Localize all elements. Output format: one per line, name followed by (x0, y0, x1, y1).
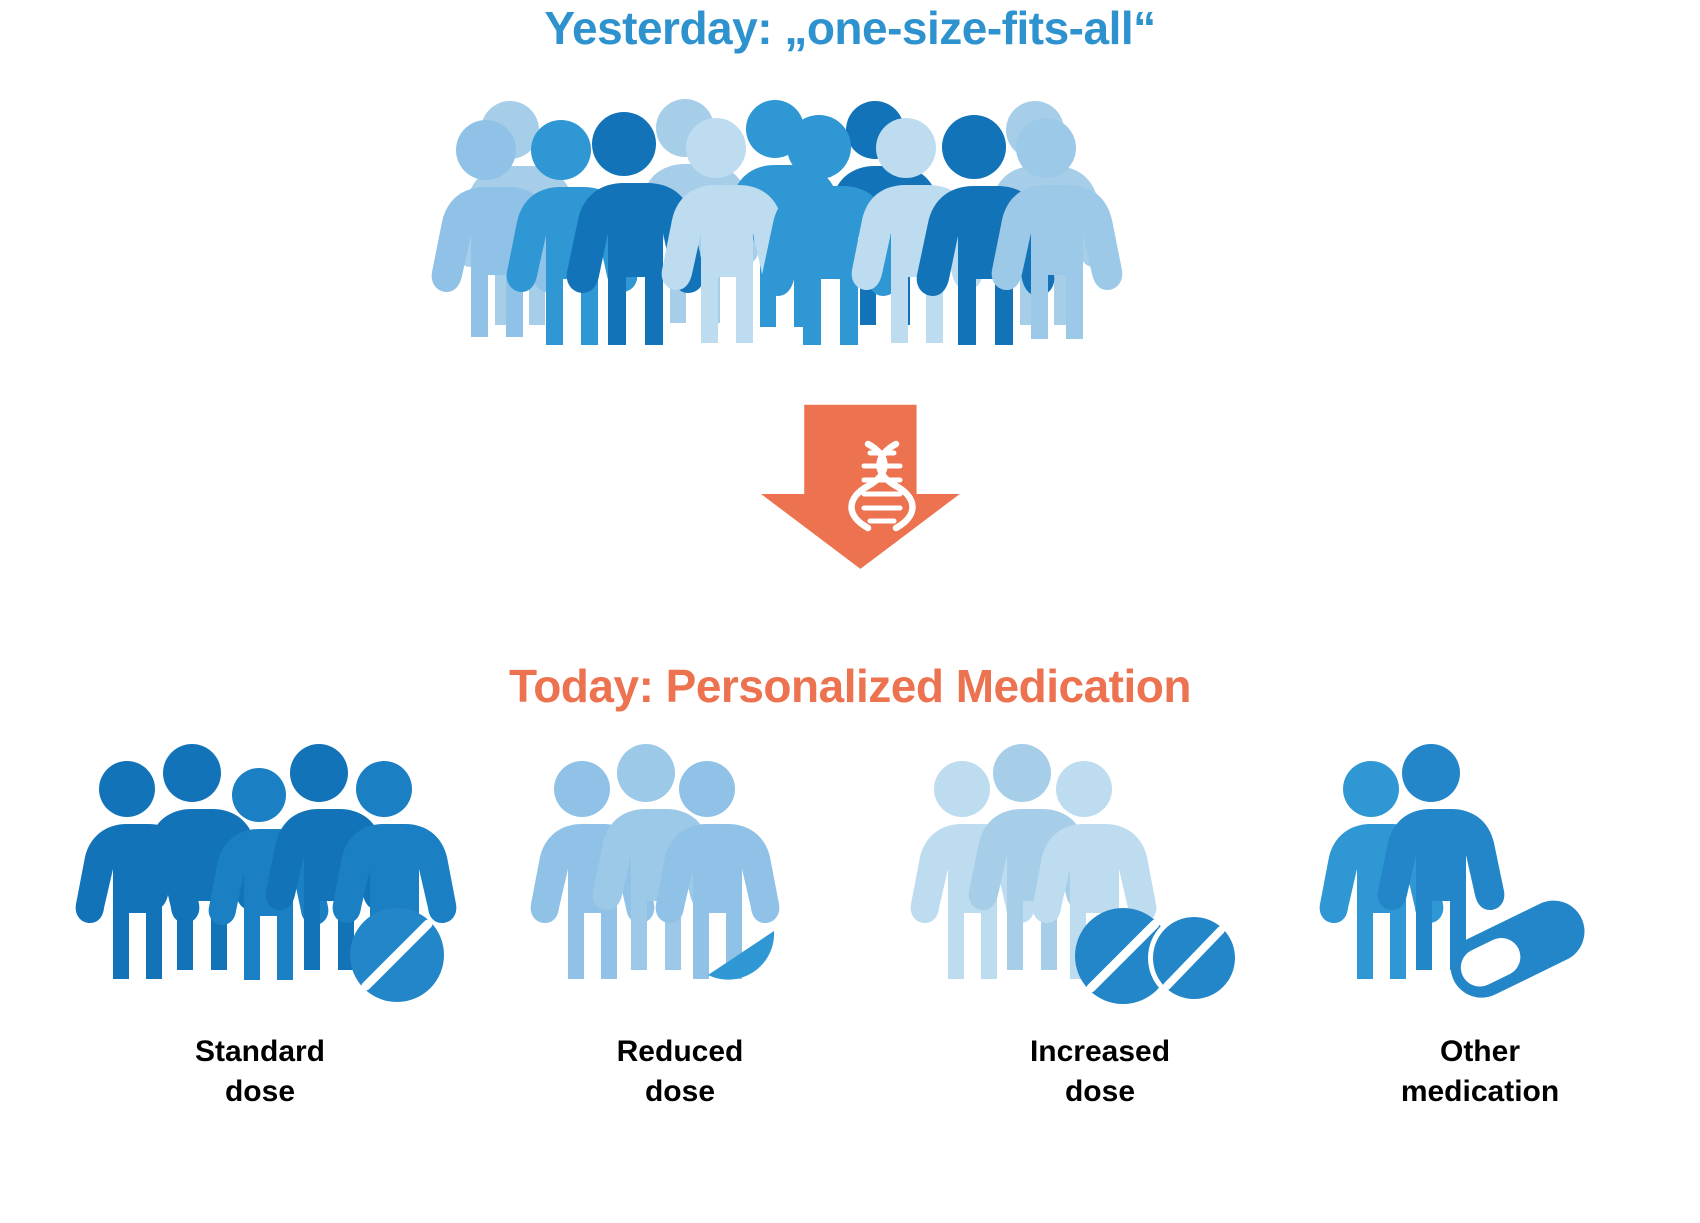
crowd-figure (660, 115, 772, 343)
patient-population-crowd (435, 95, 1095, 345)
group-label-reduced-dose: Reduced dose (480, 1032, 880, 1112)
group-other-medication (1305, 720, 1665, 1020)
group-label-line2: medication (1260, 1072, 1700, 1112)
capsule-pill-icon (1433, 890, 1603, 1010)
half-round-pill-icon (700, 915, 792, 1007)
group-label-line1: Increased (1030, 1035, 1170, 1068)
group-label-other-medication: Other medication (1260, 1032, 1700, 1112)
group-label-line1: Reduced (617, 1035, 744, 1068)
group-label-line2: dose (480, 1072, 880, 1112)
down-arrow-shape (761, 405, 960, 569)
group-label-line1: Standard (195, 1035, 325, 1068)
infographic-canvas: Yesterday: „one-size-fits-all“ (0, 0, 1700, 1223)
group-standard-dose (60, 720, 460, 1020)
group-increased-dose (890, 720, 1290, 1020)
group-label-line1: Other (1440, 1035, 1520, 1068)
page-title-yesterday: Yesterday: „one-size-fits-all“ (0, 0, 1700, 58)
page-title-today: Today: Personalized Medication (0, 656, 1700, 716)
group-label-increased-dose: Increased dose (880, 1032, 1320, 1112)
transition-arrow (700, 398, 1000, 583)
two-round-pills-icon (1070, 900, 1260, 1010)
group-label-line2: dose (60, 1072, 460, 1112)
full-round-pill-icon (342, 900, 452, 1010)
group-label-standard-dose: Standard dose (60, 1032, 460, 1112)
crowd-figure (990, 115, 1102, 339)
group-label-line2: dose (880, 1072, 1320, 1112)
group-reduced-dose (510, 720, 890, 1020)
